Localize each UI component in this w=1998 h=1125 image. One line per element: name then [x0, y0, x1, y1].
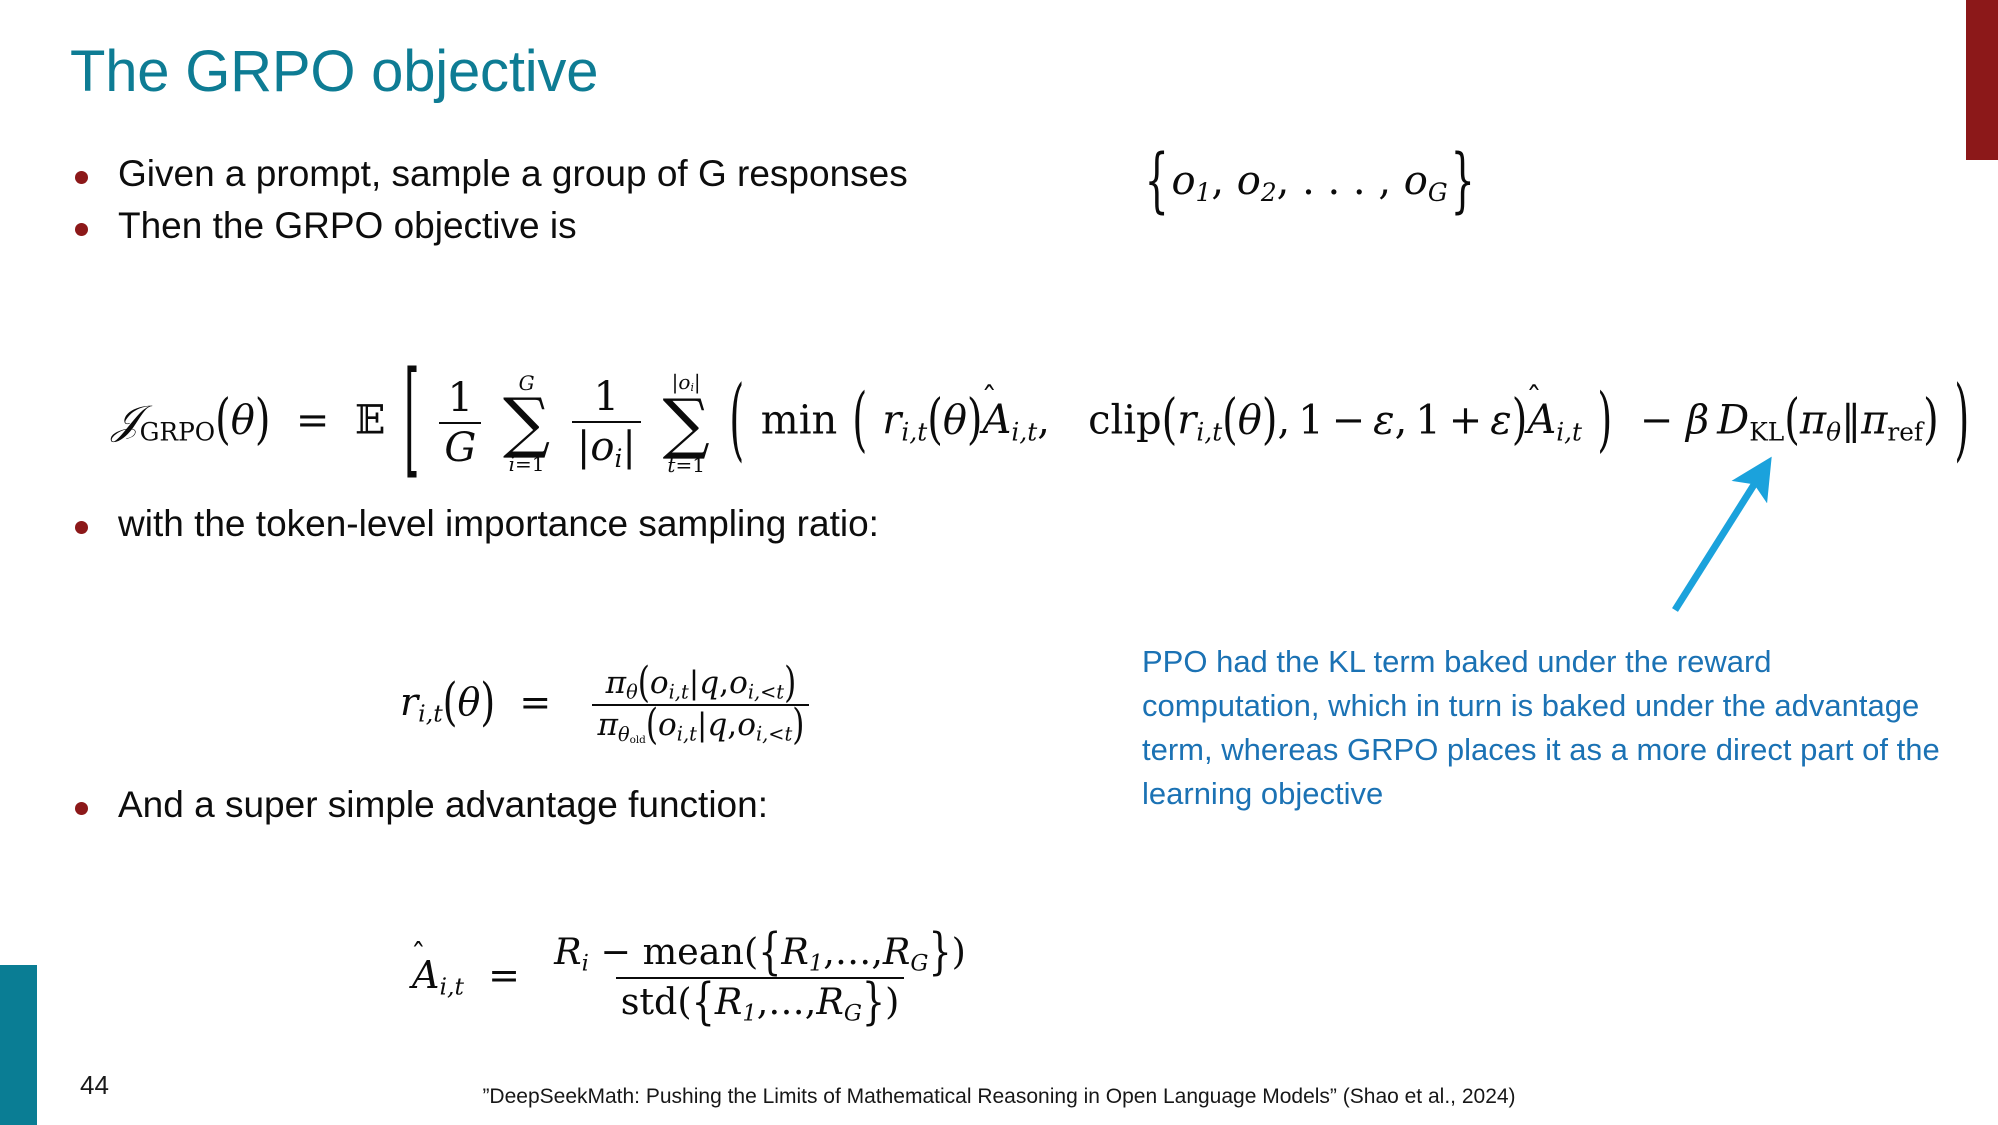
- bullet-item-4: And a super simple advantage function:: [75, 783, 768, 827]
- bullet-label-3: with the token-level importance sampling…: [118, 502, 879, 546]
- bullet-label-4: And a super simple advantage function:: [118, 783, 768, 827]
- brace-close: }: [1450, 141, 1474, 222]
- page-title: The GRPO objective: [70, 38, 598, 105]
- bullet-marker-icon: [75, 223, 88, 236]
- bullet-marker-icon: [75, 802, 88, 815]
- brace-open: {: [1145, 141, 1169, 222]
- citation-footer: ”DeepSeekMath: Pushing the Limits of Mat…: [0, 1085, 1998, 1109]
- bullet-marker-icon: [75, 521, 88, 534]
- math-grpo-objective: 𝒥GRPO(θ) = 𝔼 [ 1G G∑i=1 1|oi| |oi|∑t=1 (…: [112, 372, 1973, 475]
- bullet-label-1: Given a prompt, sample a group of G resp…: [118, 152, 908, 196]
- bullet-item-1: Given a prompt, sample a group of G resp…: [75, 152, 908, 196]
- bullet-marker-icon: [75, 171, 88, 184]
- bullet-item-2: Then the GRPO objective is: [75, 204, 577, 248]
- bullet-item-3: with the token-level importance sampling…: [75, 502, 879, 546]
- math-responses-set: {o1, o2, . . . , oG}: [1142, 158, 1477, 207]
- annotation-note: PPO had the KL term baked under the rewa…: [1142, 640, 1942, 816]
- math-advantage-function: ̂Ai,t = Ri − mean({R1,…,RG}) std({R1,…,R…: [412, 930, 976, 1027]
- math-importance-ratio: ri,t(θ) = πθ(oi,t|q,oi,<t) πθold(oi,t|q,…: [400, 665, 814, 746]
- bullet-label-2: Then the GRPO objective is: [118, 204, 577, 248]
- accent-bar-right: [1966, 0, 1998, 160]
